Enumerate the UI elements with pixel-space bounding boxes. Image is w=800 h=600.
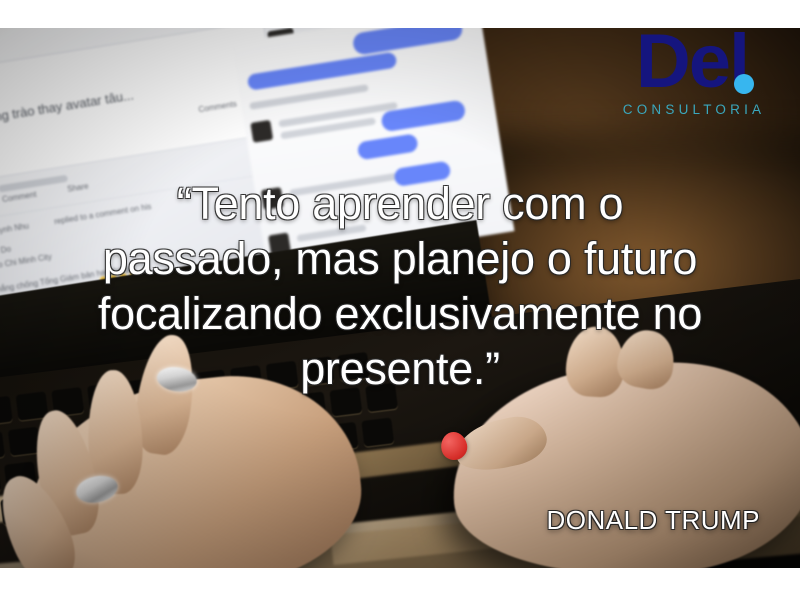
quote-slide: ong trào thay avatar tâu... Comments Com… (0, 0, 800, 600)
chat-avatar (250, 120, 273, 143)
chat-bubble-outgoing (357, 133, 419, 160)
quote-line-4: presente.” (0, 341, 800, 396)
quote-line-2: passado, mas planejo o futuro (0, 231, 800, 286)
message-button (247, 52, 398, 91)
messenger-toolbar (352, 28, 464, 56)
keyboard-key (361, 417, 394, 446)
facebook-line (249, 84, 369, 110)
quote-text: “Tento aprender com o passado, mas plane… (0, 176, 800, 396)
keyboard-key (0, 466, 1, 495)
logo-wordmark: Del (636, 26, 748, 98)
quote-line-3: focalizando exclusivamente no (0, 286, 800, 341)
logo-subtitle: CONSULTORIA (602, 102, 782, 117)
letterbox-bottom (0, 568, 800, 600)
letterbox-top (0, 0, 800, 28)
keyboard-key (0, 431, 5, 460)
logo-dot-icon (734, 74, 754, 94)
quote-attribution: DONALD TRUMP (546, 505, 760, 536)
quote-line-1: “Tento aprender com o (0, 176, 800, 231)
logo-wordmark-text: Del (636, 19, 748, 104)
keyboard-key (0, 396, 13, 425)
del-consultoria-logo: Del CONSULTORIA (602, 26, 782, 117)
